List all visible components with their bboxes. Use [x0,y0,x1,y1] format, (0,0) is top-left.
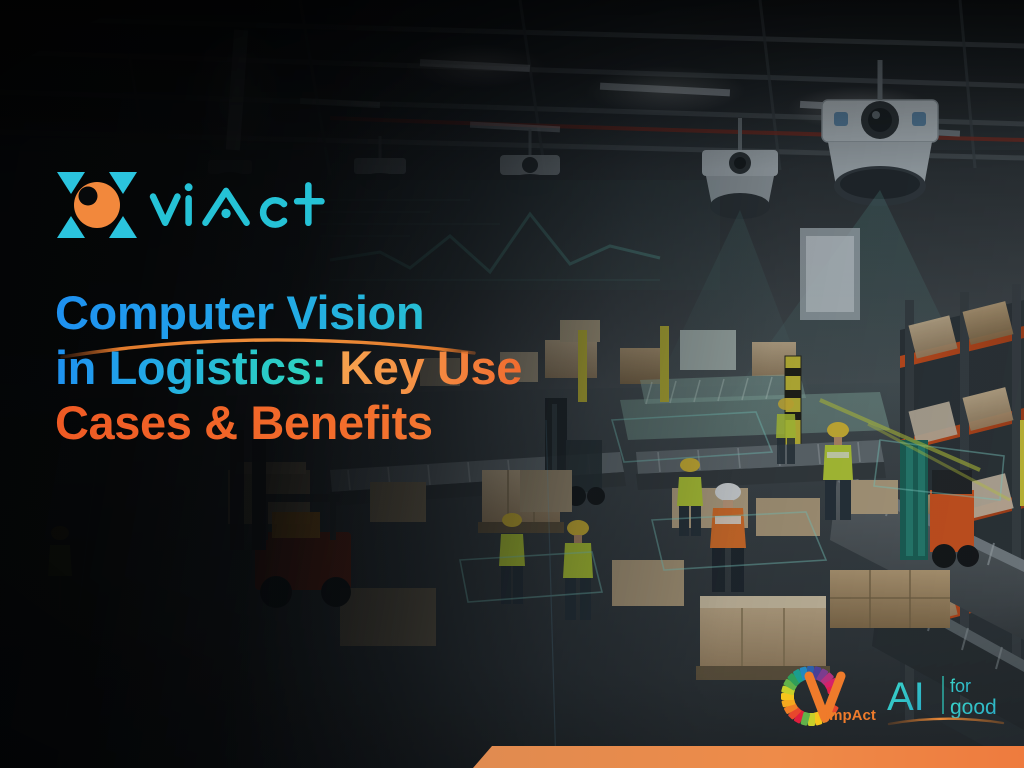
page-title: Computer Vision in Logistics: Key Use Ca… [55,286,675,451]
ai-swoosh-icon [889,719,1003,724]
headline-line-3: Cases & Benefits [55,396,675,451]
orange-swoosh-underline-icon [58,327,478,361]
ai-for-good-logo[interactable]: AI for good [887,668,1005,728]
vimpact-logo[interactable]: impAct [775,662,880,732]
good-text: good [950,696,997,719]
viact-wordmark [147,176,335,234]
viact-logo[interactable] [55,168,335,242]
ai-hologram-overlay [300,180,720,290]
vimpact-label: impAct [825,707,876,724]
partner-logos: impAct AI for good [775,660,1005,732]
footer-orange-bar [420,740,1024,768]
viact-x-eye-logo-icon [55,168,139,242]
for-text: for [950,676,971,696]
marketing-banner: Computer Vision in Logistics: Key Use Ca… [0,0,1024,768]
ai-text: AI [887,675,925,719]
